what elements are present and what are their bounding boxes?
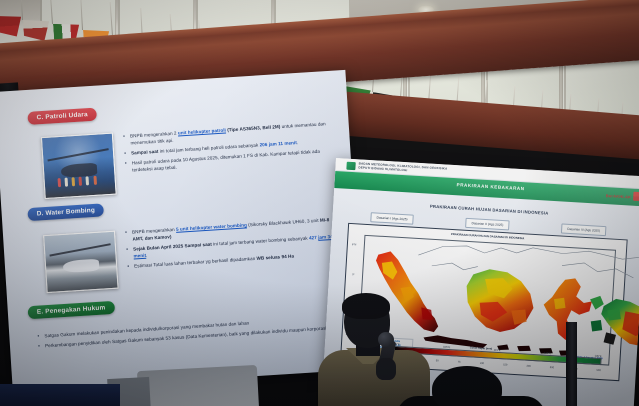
colorbar-tick: 200 <box>526 365 530 368</box>
colorbar-tick: 50 <box>436 359 439 362</box>
section-e-bullets: Satgas Gakum melakukan penindakan kepada… <box>37 315 338 354</box>
press-briefing-scene: C. Patroli Udara BNPB mengerahkan 2 unit… <box>0 0 639 406</box>
speaker-hair <box>342 293 390 319</box>
colorbar-tick: 75 <box>458 361 461 364</box>
microphone-icon <box>378 332 394 347</box>
ground-crew <box>54 171 105 187</box>
speaker-hand <box>376 358 396 380</box>
colorbar-tick: 300 <box>550 366 554 369</box>
section-c-bullets: BNPB mengerahkan 2 unit helikopter patro… <box>123 121 331 177</box>
y-tick: 0° <box>352 273 355 276</box>
section-label-d: D. Water Bombing <box>27 203 104 221</box>
left-projection-screen[interactable]: C. Patroli Udara BNPB mengerahkan 2 unit… <box>0 70 364 392</box>
water-bombing-helicopter-photo <box>43 231 118 293</box>
helicopter-body <box>63 258 100 273</box>
audience-head <box>432 366 502 406</box>
colorbar-tick: 100 <box>480 362 484 365</box>
section-d-bullets: BNPB mengerahkan 5 unit helikopter water… <box>125 217 337 274</box>
colorbar-tick: 500 <box>596 369 600 372</box>
y-tick: 6°N <box>352 243 357 246</box>
foreground-panel <box>137 365 259 406</box>
speaker-silhouette <box>318 296 430 406</box>
foreground-monitor <box>0 384 120 406</box>
section-label-c: C. Patroli Udara <box>27 108 97 125</box>
berakhlak-label: BerAKHLAK <box>606 193 632 199</box>
bmkg-logo-icon <box>346 161 355 170</box>
section-label-e: E. Penegakan Hukum <box>28 301 115 319</box>
tab-dasarian-1[interactable]: Dasarian I (Ags 2025) <box>370 212 414 225</box>
colorbar-tick: 150 <box>503 363 507 366</box>
patrol-helicopter-photo <box>41 133 117 199</box>
support-post <box>566 322 577 406</box>
rotor-blade <box>48 148 109 161</box>
tab-dasarian-2[interactable]: Dasarian II (Ags 2025) <box>465 218 509 231</box>
tab-dasarian-3[interactable]: Dasarian III (Ags 2025) <box>561 223 606 236</box>
berakhlak-icon <box>633 192 639 201</box>
rotor-blade <box>50 243 111 256</box>
